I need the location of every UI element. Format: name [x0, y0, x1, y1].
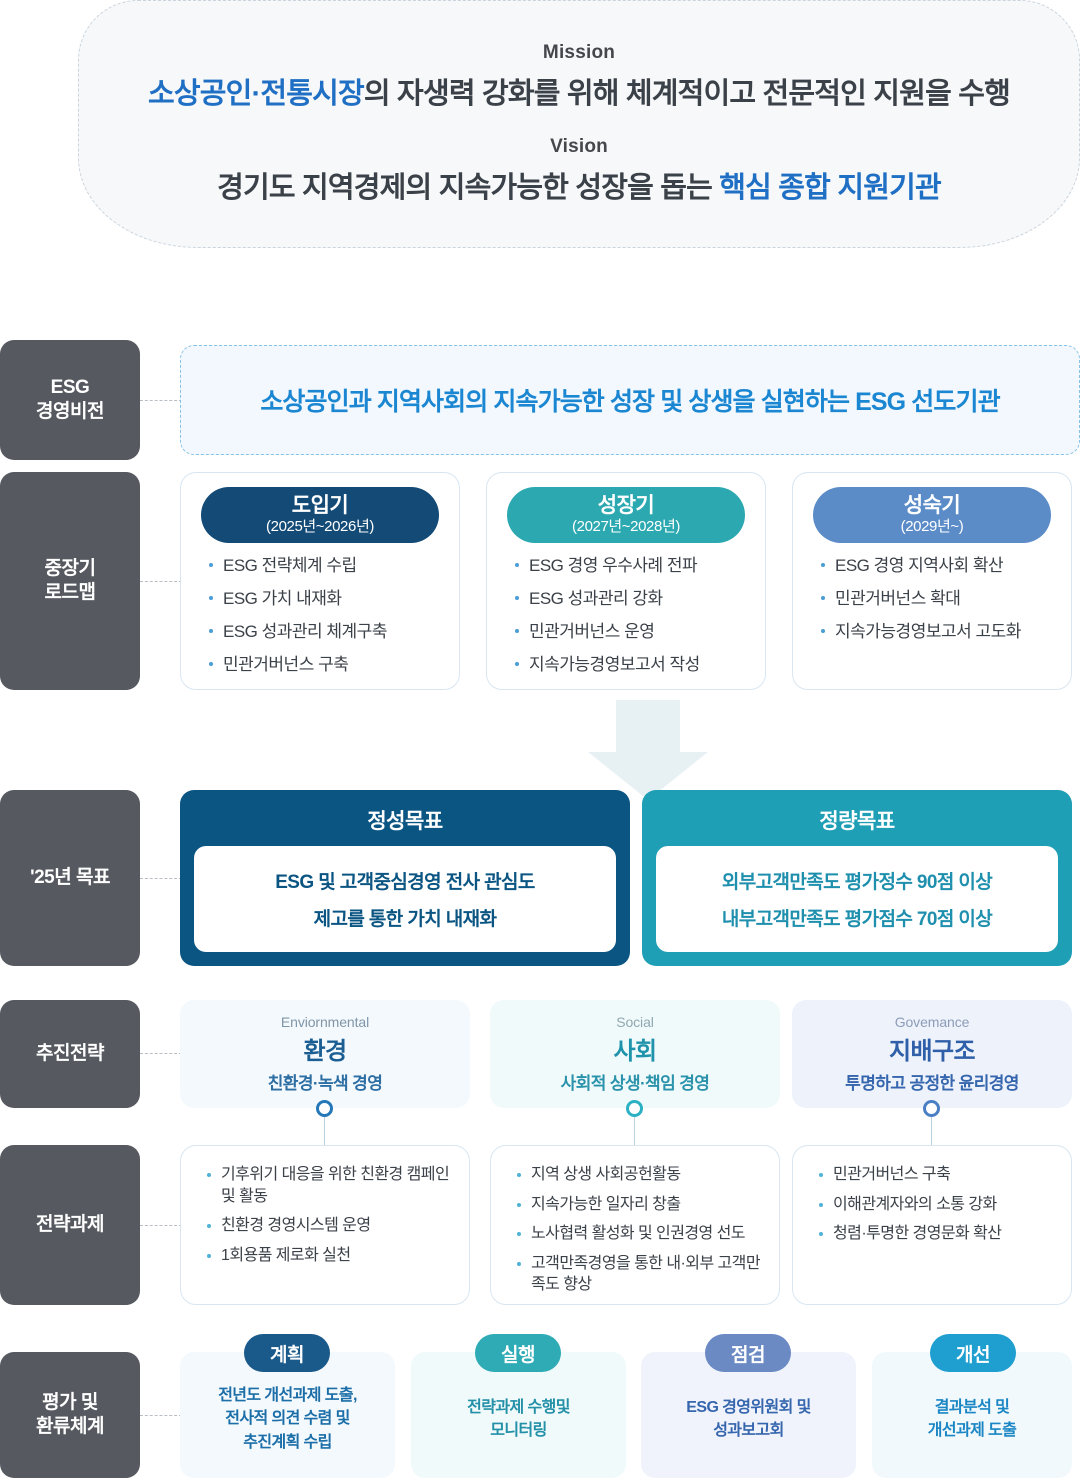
- list-item: 친환경 경영시스템 운영: [207, 1215, 455, 1237]
- pdca-line: 모니터링: [490, 1422, 546, 1439]
- strategy-pillar-environmental: Enviornmental 환경 친환경·녹색 경영: [180, 1000, 470, 1108]
- roadmap-stage-period: (2029년~): [901, 519, 964, 536]
- list-item: 청렴·투명한 경영문화 확산: [819, 1223, 1057, 1245]
- list-item: ESG 전략체계 수립: [209, 557, 443, 574]
- goal-box-quantitative: 정량목표 외부고객만족도 평가정수 90점 이상 내부고객만족도 평가점수 70…: [642, 790, 1072, 966]
- list-item: ESG 경영 우수사례 전파: [515, 557, 749, 574]
- pdca-pill-act: 개선: [930, 1334, 1016, 1372]
- roadmap-item-list: ESG 경영 우수사례 전파 ESG 성과관리 강화 민관거버넌스 운영 지속가…: [515, 557, 749, 689]
- pdca-line: 개선과제 도출: [928, 1422, 1017, 1439]
- pdca-line: 결과분석 및: [935, 1399, 1009, 1416]
- goal-title: 정량목표: [642, 800, 1072, 840]
- side-label-line1: 전략과제: [36, 1214, 104, 1235]
- pdca-text: 전략과제 수행및 모니터링: [457, 1396, 580, 1442]
- pillar-description: 친환경·녹색 경영: [268, 1069, 382, 1094]
- list-item: ESG 성과관리 강화: [515, 590, 749, 607]
- roadmap-stage-pill: 성숙기 (2029년~): [813, 487, 1051, 543]
- side-label-tasks: 전략과제: [0, 1145, 140, 1305]
- list-item: 지속가능경영보고서 고도화: [821, 623, 1055, 640]
- strategy-pillar-social: Social 사회 사회적 상생·책임 경영: [490, 1000, 780, 1108]
- pdca-line: 전사적 의견 수렴 및: [225, 1410, 350, 1427]
- mission-label: Mission: [543, 42, 615, 64]
- side-label-goals-2025: '25년 목표: [0, 790, 140, 966]
- list-item: 1회용품 제로화 실천: [207, 1245, 455, 1267]
- side-label-strategy: 추진전략: [0, 1000, 140, 1108]
- roadmap-item-list: ESG 경영 지역사회 확산 민관거버넌스 확대 지속가능경영보고서 고도화: [821, 557, 1055, 656]
- pdca-pill-do: 실행: [475, 1334, 561, 1372]
- roadmap-stage-card: 성장기 (2027년~2028년) ESG 경영 우수사례 전파 ESG 성과관…: [486, 472, 766, 690]
- pillar-description: 사회적 상생·책임 경영: [561, 1069, 710, 1094]
- list-item: ESG 성과관리 체계구축: [209, 623, 443, 640]
- vision-prefix: 경기도 지역경제의 지속가능한 성장을 돕는: [217, 172, 719, 204]
- list-item: 기후위기 대응을 위한 친환경 캠페인 및 활동: [207, 1164, 455, 1207]
- list-item: 노사협력 활성화 및 인권경영 선도: [517, 1223, 765, 1245]
- mission-rest: 의 자생력 강화를 위해 체계적이고 전문적인 지원을 수행: [364, 78, 1010, 110]
- pillar-english-label: Enviornmental: [281, 1014, 369, 1030]
- side-label-text: 추진전략: [36, 1042, 104, 1066]
- pdca-text: 결과분석 및 개선과제 도출: [918, 1396, 1027, 1442]
- esg-strategy-diagram: Mission 소상공인·전통시장의 자생력 강화를 위해 체계적이고 전문적인…: [0, 0, 1080, 1484]
- side-label-text: ESG 경영비전: [36, 376, 104, 425]
- pdca-text: 전년도 개선과제 도출, 전사적 의견 수렴 및 추진계획 수립: [208, 1384, 367, 1454]
- pillar-connector-line: [634, 1117, 635, 1145]
- roadmap-stage-card: 도입기 (2025년~2026년) ESG 전략체계 수립 ESG 가치 내재화…: [180, 472, 460, 690]
- pdca-pill-check: 점검: [705, 1334, 791, 1372]
- goal-line: 외부고객만족도 평가정수 90점 이상: [722, 867, 992, 894]
- connector-goals-2025: [140, 878, 182, 879]
- side-label-text: 평가 및 환류체계: [36, 1391, 104, 1440]
- side-label-evaluation: 평가 및 환류체계: [0, 1352, 140, 1478]
- task-card-governance: 민관거버넌스 구축 이해관계자와의 소통 강화 청렴·투명한 경영문화 확산: [792, 1145, 1072, 1305]
- list-item: 지속가능경영보고서 작성: [515, 656, 749, 673]
- pdca-line: 전년도 개선과제 도출,: [218, 1387, 357, 1404]
- side-label-line1: ESG: [51, 377, 90, 398]
- vision-statement: 경기도 지역경제의 지속가능한 성장을 돕는 핵심 종합 지원기관: [217, 164, 941, 206]
- list-item: 고객만족경영을 통한 내·외부 고객만족도 향상: [517, 1253, 765, 1296]
- list-item: 민관거버넌스 확대: [821, 590, 1055, 607]
- connector-strategy: [140, 1053, 182, 1054]
- pillar-description: 투명하고 공정한 윤리경영: [845, 1069, 1019, 1094]
- side-label-line2: 환류체계: [36, 1416, 104, 1437]
- pdca-line: ESG 경영위원회 및: [686, 1399, 810, 1416]
- side-label-text: '25년 목표: [30, 866, 110, 890]
- pillar-connector-ring: [626, 1100, 643, 1117]
- side-label-line1: 추진전략: [36, 1043, 104, 1064]
- list-item: 이해관계자와의 소통 강화: [819, 1194, 1057, 1216]
- pdca-line: 성과보고회: [713, 1422, 784, 1439]
- pdca-pill-plan: 계획: [244, 1334, 330, 1372]
- side-label-line1: 중장기: [45, 558, 96, 579]
- side-label-line1: 평가 및: [42, 1392, 98, 1413]
- mission-highlight: 소상공인·전통시장: [148, 78, 364, 110]
- roadmap-stage-name: 성숙기: [904, 494, 960, 517]
- side-label-roadmap: 중장기 로드맵: [0, 472, 140, 690]
- side-label-esg-vision: ESG 경영비전: [0, 340, 140, 460]
- vision-highlight: 핵심 종합 지원기관: [719, 172, 941, 204]
- pillar-connector-ring: [316, 1100, 333, 1117]
- strategy-pillar-governance: Govemance 지배구조 투명하고 공정한 윤리경영: [792, 1000, 1072, 1108]
- task-list: 지역 상생 사회공헌활동 지속가능한 일자리 창출 노사협력 활성화 및 인권경…: [517, 1164, 765, 1304]
- roadmap-item-list: ESG 전략체계 수립 ESG 가치 내재화 ESG 성과관리 체계구축 민관거…: [209, 557, 443, 689]
- goal-title: 정성목표: [180, 800, 630, 840]
- goal-line: 제고를 통한 가치 내재화: [314, 904, 497, 931]
- pdca-line: 추진계획 수립: [243, 1434, 332, 1451]
- vision-label: Vision: [550, 136, 608, 158]
- task-list: 기후위기 대응을 위한 친환경 캠페인 및 활동 친환경 경영시스템 운영 1회…: [207, 1164, 455, 1274]
- pillar-korean-label: 사회: [614, 1031, 657, 1066]
- connector-roadmap: [140, 581, 182, 582]
- arrow-shaft: [616, 700, 680, 752]
- esg-vision-banner: 소상공인과 지역사회의 지속가능한 성장 및 상생을 실현하는 ESG 선도기관: [180, 345, 1080, 455]
- connector-tasks: [140, 1225, 182, 1226]
- list-item: 민관거버넌스 운영: [515, 623, 749, 640]
- pillar-korean-label: 환경: [304, 1031, 347, 1066]
- mission-statement: 소상공인·전통시장의 자생력 강화를 위해 체계적이고 전문적인 지원을 수행: [148, 70, 1010, 112]
- roadmap-stage-name: 도입기: [292, 494, 348, 517]
- goal-box-qualitative: 정성목표 ESG 및 고객중심경영 전사 관심도 제고를 통한 가치 내재화: [180, 790, 630, 966]
- roadmap-stage-period: (2025년~2026년): [266, 519, 374, 536]
- list-item: 민관거버넌스 구축: [209, 656, 443, 673]
- roadmap-stage-pill: 성장기 (2027년~2028년): [507, 487, 745, 543]
- pdca-line: 전략과제 수행및: [467, 1399, 570, 1416]
- pillar-korean-label: 지배구조: [889, 1031, 975, 1066]
- goal-line: 내부고객만족도 평가점수 70점 이상: [722, 904, 992, 931]
- roadmap-stage-period: (2027년~2028년): [572, 519, 680, 536]
- task-card-social: 지역 상생 사회공헌활동 지속가능한 일자리 창출 노사협력 활성화 및 인권경…: [490, 1145, 780, 1305]
- pillar-english-label: Govemance: [895, 1014, 970, 1030]
- roadmap-stage-name: 성장기: [598, 494, 654, 517]
- list-item: 지역 상생 사회공헌활동: [517, 1164, 765, 1186]
- pillar-connector-line: [931, 1117, 932, 1145]
- task-card-environmental: 기후위기 대응을 위한 친환경 캠페인 및 활동 친환경 경영시스템 운영 1회…: [180, 1145, 470, 1305]
- side-label-text: 중장기 로드맵: [45, 557, 96, 606]
- pdca-text: ESG 경영위원회 및 성과보고회: [676, 1396, 820, 1442]
- task-list: 민관거버넌스 구축 이해관계자와의 소통 강화 청렴·투명한 경영문화 확산: [819, 1164, 1057, 1253]
- side-label-line1: '25년 목표: [30, 867, 110, 888]
- list-item: ESG 경영 지역사회 확산: [821, 557, 1055, 574]
- pillar-english-label: Social: [616, 1014, 654, 1030]
- goal-content: ESG 및 고객중심경영 전사 관심도 제고를 통한 가치 내재화: [194, 846, 616, 952]
- side-label-text: 전략과제: [36, 1213, 104, 1237]
- list-item: ESG 가치 내재화: [209, 590, 443, 607]
- connector-evaluation: [140, 1415, 182, 1416]
- goal-content: 외부고객만족도 평가정수 90점 이상 내부고객만족도 평가점수 70점 이상: [656, 846, 1058, 952]
- connector-esg-vision: [140, 400, 182, 401]
- goal-line: ESG 및 고객중심경영 전사 관심도: [275, 867, 535, 894]
- side-label-line2: 경영비전: [36, 401, 104, 422]
- side-label-line2: 로드맵: [45, 582, 96, 603]
- list-item: 민관거버넌스 구축: [819, 1164, 1057, 1186]
- pillar-connector-line: [324, 1117, 325, 1145]
- list-item: 지속가능한 일자리 창출: [517, 1194, 765, 1216]
- roadmap-stage-card: 성숙기 (2029년~) ESG 경영 지역사회 확산 민관거버넌스 확대 지속…: [792, 472, 1072, 690]
- roadmap-stage-pill: 도입기 (2025년~2026년): [201, 487, 439, 543]
- mission-vision-card: Mission 소상공인·전통시장의 자생력 강화를 위해 체계적이고 전문적인…: [78, 0, 1080, 248]
- pillar-connector-ring: [923, 1100, 940, 1117]
